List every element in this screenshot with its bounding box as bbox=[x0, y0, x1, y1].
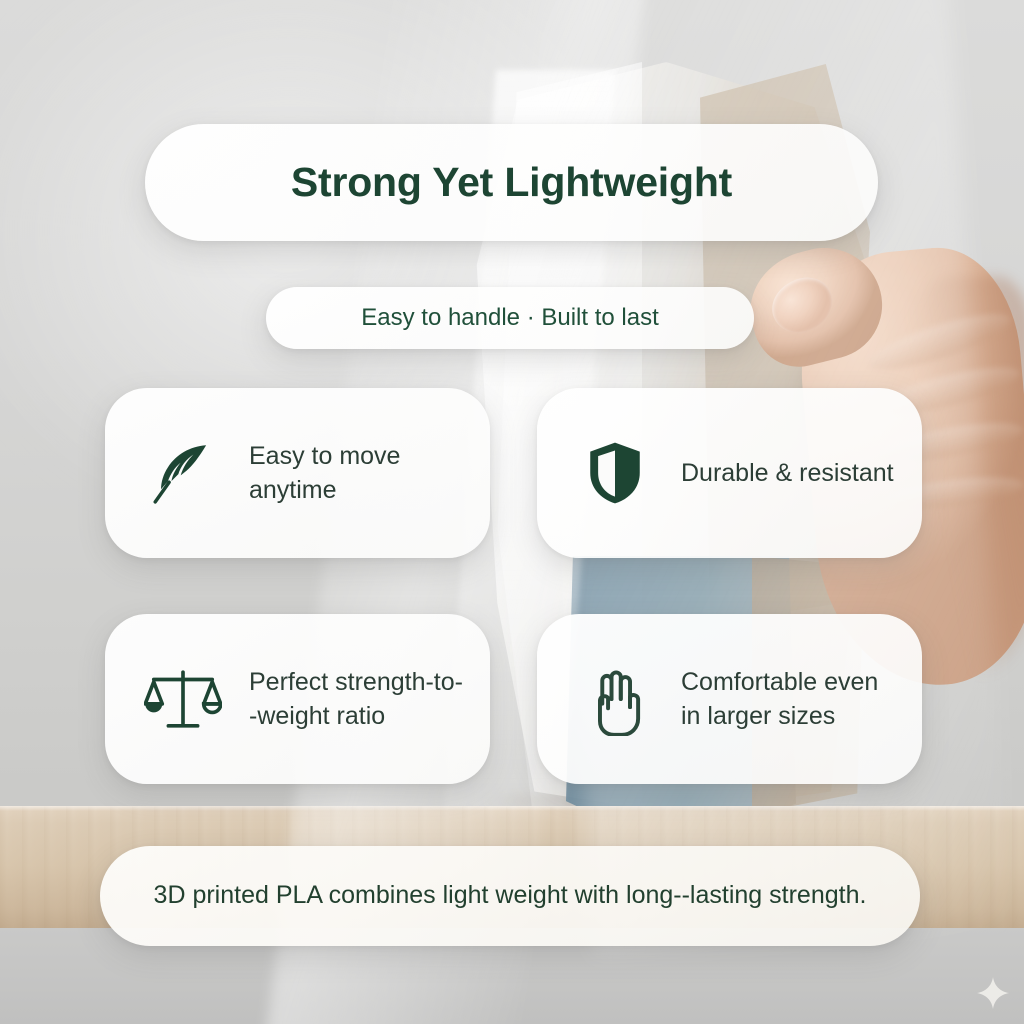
footer-banner: 3D printed PLA combines light weight wit… bbox=[100, 846, 920, 946]
page-title: Strong Yet Lightweight bbox=[291, 159, 732, 206]
feature-label: Perfect strength-to--weight ratio bbox=[249, 665, 464, 734]
feature-label: Comfortable even in larger sizes bbox=[681, 665, 896, 734]
feature-card-durable: Durable & resistant bbox=[537, 388, 922, 558]
feature-label: Durable & resistant bbox=[681, 456, 894, 491]
thumbnail bbox=[763, 267, 843, 343]
infographic-canvas: Strong Yet Lightweight Easy to handle · … bbox=[0, 0, 1024, 1024]
feature-label: Easy to move anytime bbox=[249, 439, 464, 508]
title-pill: Strong Yet Lightweight bbox=[145, 124, 878, 241]
page-subtitle: Easy to handle · Built to last bbox=[361, 304, 659, 332]
feature-card-comfortable: Comfortable even in larger sizes bbox=[537, 614, 922, 784]
sparkle-icon bbox=[976, 976, 1010, 1010]
subtitle-pill: Easy to handle · Built to last bbox=[266, 287, 754, 349]
feature-card-easy-to-move: Easy to move anytime bbox=[105, 388, 490, 558]
feature-card-strength-to-weight: Perfect strength-to--weight ratio bbox=[105, 614, 490, 784]
shield-icon bbox=[575, 433, 655, 513]
balance-scale-icon bbox=[143, 659, 223, 739]
feather-icon bbox=[143, 433, 223, 513]
shelf-top-edge bbox=[0, 806, 1024, 811]
hand-icon bbox=[575, 659, 655, 739]
footer-note: 3D printed PLA combines light weight wit… bbox=[114, 878, 907, 914]
